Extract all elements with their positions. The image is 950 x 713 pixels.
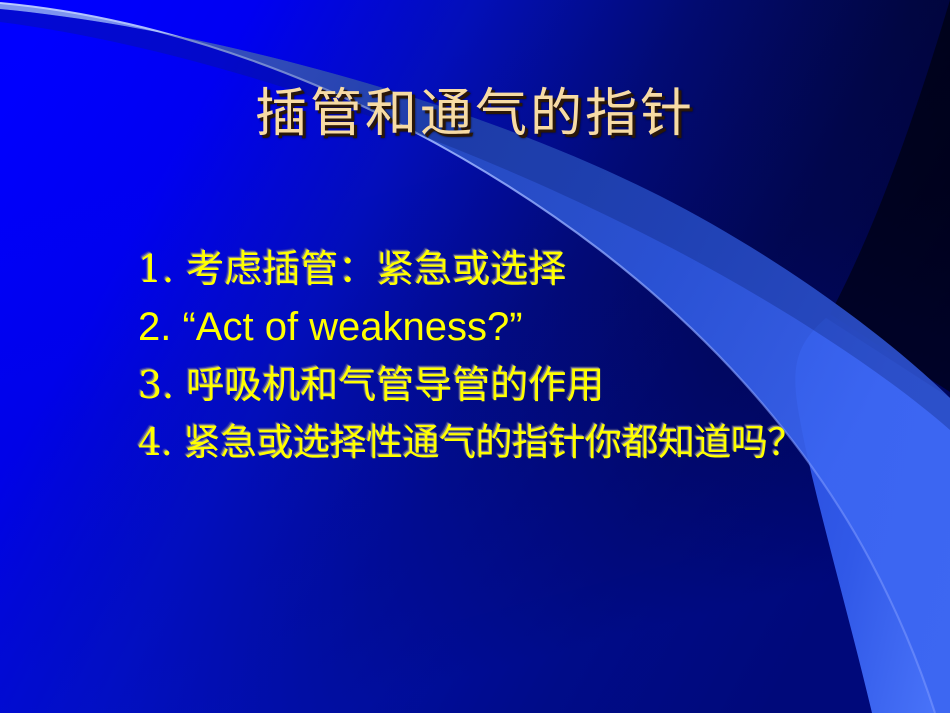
presentation-slide: 插管和通气的指针 1. 考虑插管：紧急或选择 2. “Act of weakne… <box>0 0 950 713</box>
slide-content: 插管和通气的指针 1. 考虑插管：紧急或选择 2. “Act of weakne… <box>0 0 950 713</box>
bullet-item-3: 3. 呼吸机和气管导管的作用 <box>138 356 938 414</box>
bullet-list: 1. 考虑插管：紧急或选择 2. “Act of weakness?” 3. 呼… <box>138 240 938 472</box>
bullet-item-2: 2. “Act of weakness?” <box>138 298 938 356</box>
bullet-item-1: 1. 考虑插管：紧急或选择 <box>138 240 938 298</box>
slide-title: 插管和通气的指针 <box>0 86 950 142</box>
bullet-item-4: 4. 紧急或选择性通气的指针你都知道吗？ <box>138 414 938 472</box>
